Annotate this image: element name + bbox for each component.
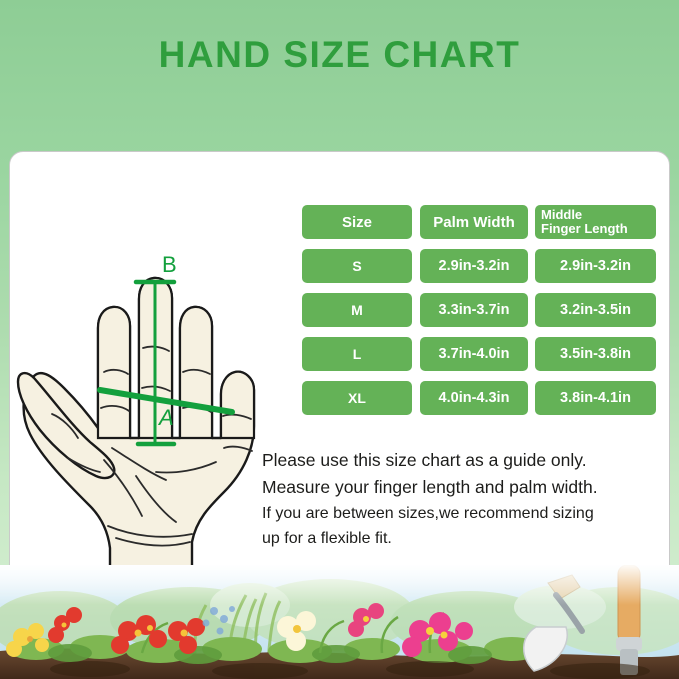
cell-size: S (302, 249, 412, 283)
sizing-note: Please use this size chart as a guide on… (262, 447, 662, 551)
cell-finger-length: 3.5in-3.8in (535, 337, 656, 371)
garden-flowers-photo (0, 565, 679, 679)
cell-palm-width: 4.0in-4.3in (420, 381, 528, 415)
cell-finger-length: 3.8in-4.1in (535, 381, 656, 415)
hand-size-chart-page: HAND SIZE CHART (0, 0, 679, 679)
table-row: S 2.9in-3.2in 2.9in-3.2in (302, 249, 656, 283)
cell-finger-length: 2.9in-3.2in (535, 249, 656, 283)
cell-size: L (302, 337, 412, 371)
header-middle-finger-length: Middle Finger Length (535, 205, 656, 239)
little-finger (221, 372, 254, 438)
photo-fade-overlay (0, 565, 679, 605)
measure-label-a: A (159, 405, 174, 431)
header-middle-finger-length-line1: Middle (541, 208, 628, 222)
note-line-2: Measure your finger length and palm widt… (262, 474, 662, 501)
cell-size: XL (302, 381, 412, 415)
hand-measurement-diagram: B A (16, 176, 284, 571)
measure-label-b: B (162, 252, 177, 278)
page-title: HAND SIZE CHART (0, 34, 679, 76)
cell-finger-length: 3.2in-3.5in (535, 293, 656, 327)
cell-size: M (302, 293, 412, 327)
hand-outline-group (18, 278, 254, 571)
table-header-row: Size Palm Width Middle Finger Length (302, 205, 656, 239)
cell-palm-width: 3.3in-3.7in (420, 293, 528, 327)
note-line-3: If you are between sizes,we recommend si… (262, 501, 662, 526)
table-row: L 3.7in-4.0in 3.5in-3.8in (302, 337, 656, 371)
table-row: M 3.3in-3.7in 3.2in-3.5in (302, 293, 656, 327)
cell-palm-width: 3.7in-4.0in (420, 337, 528, 371)
table-row: XL 4.0in-4.3in 3.8in-4.1in (302, 381, 656, 415)
cell-palm-width: 2.9in-3.2in (420, 249, 528, 283)
header-size: Size (302, 205, 412, 239)
header-middle-finger-length-line2: Finger Length (541, 222, 628, 236)
size-table: Size Palm Width Middle Finger Length S 2… (302, 205, 656, 425)
note-line-1: Please use this size chart as a guide on… (262, 447, 662, 474)
header-palm-width: Palm Width (420, 205, 528, 239)
note-line-4: up for a flexible fit. (262, 526, 662, 551)
